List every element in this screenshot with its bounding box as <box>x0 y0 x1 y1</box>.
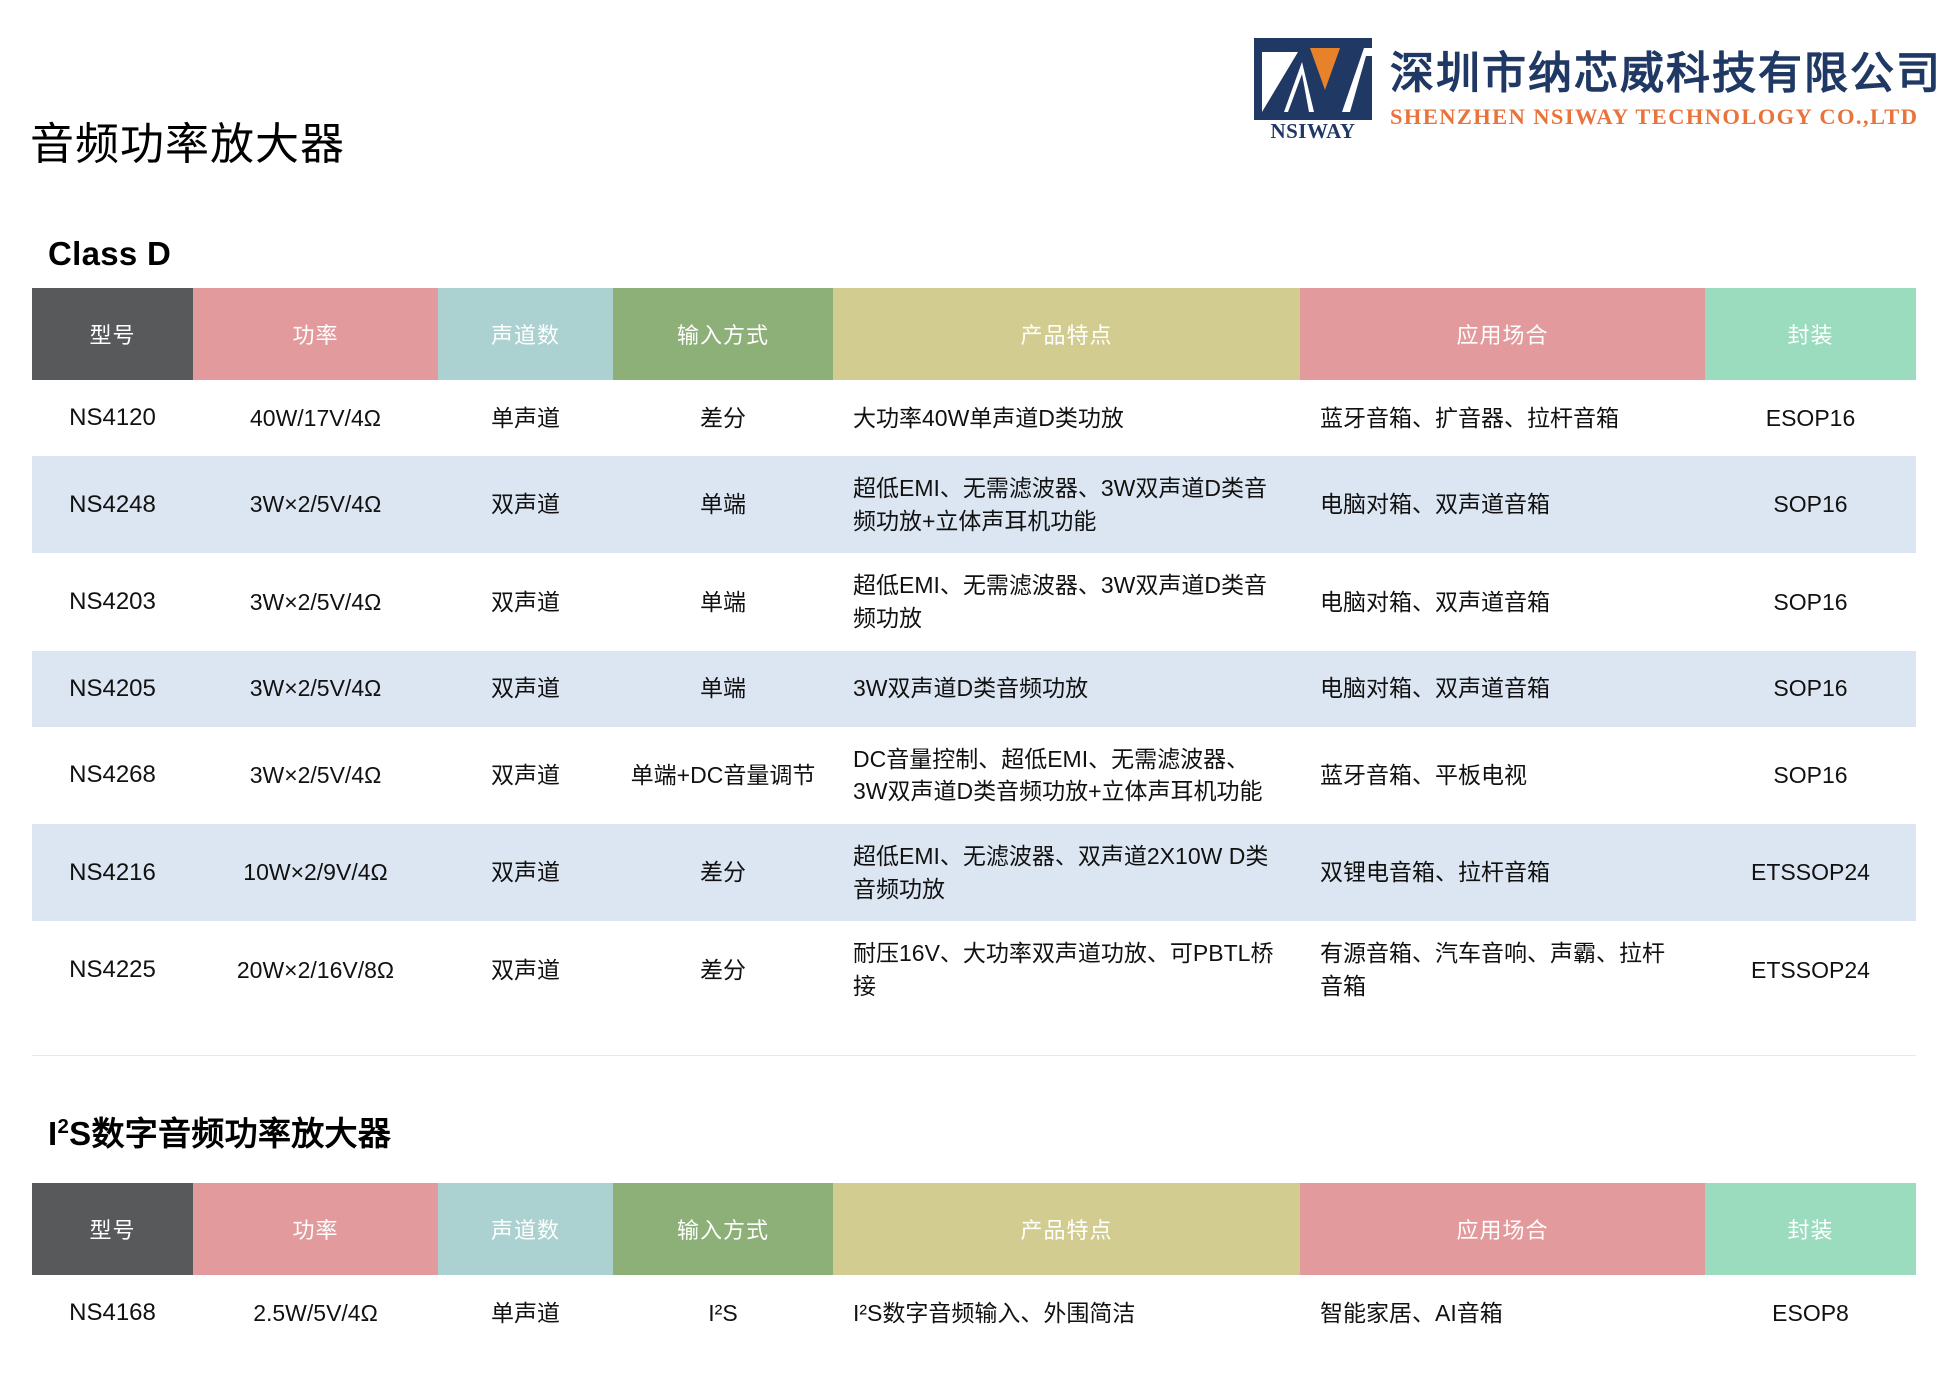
cell-applications: 智能家居、AI音箱 <box>1300 1275 1705 1351</box>
col-header-power: 功率 <box>193 288 438 380</box>
col-header-package: 封装 <box>1705 1183 1916 1275</box>
table-row: NS4168 2.5W/5V/4Ω 单声道 I²S I²S数字音频输入、外围简洁… <box>32 1275 1916 1351</box>
cell-input: 单端 <box>613 456 833 553</box>
cell-applications: 电脑对箱、双声道音箱 <box>1300 651 1705 727</box>
company-logo-block: NSIWAY 深圳市纳芯威科技有限公司 SHENZHEN NSIWAY TECH… <box>1254 38 1942 142</box>
i2s-table: 型号 功率 声道数 输入方式 产品特点 应用场合 封装 NS4168 2.5W/… <box>32 1183 1916 1351</box>
cell-power: 3W×2/5V/4Ω <box>193 456 438 553</box>
i2s-table-body: NS4168 2.5W/5V/4Ω 单声道 I²S I²S数字音频输入、外围简洁… <box>32 1275 1916 1351</box>
table-row: NS4203 3W×2/5V/4Ω 双声道 单端 超低EMI、无需滤波器、3W双… <box>32 553 1916 650</box>
section-divider <box>32 1055 1916 1056</box>
cell-features: DC音量控制、超低EMI、无需滤波器、3W双声道D类音频功放+立体声耳机功能 <box>833 727 1300 824</box>
cell-applications: 蓝牙音箱、扩音器、拉杆音箱 <box>1300 380 1705 456</box>
cell-features: 超低EMI、无需滤波器、3W双声道D类音频功放 <box>833 553 1300 650</box>
cell-model: NS4268 <box>32 727 193 824</box>
class-d-table: 型号 功率 声道数 输入方式 产品特点 应用场合 封装 NS4120 40W/1… <box>32 288 1916 1019</box>
cell-package: ESOP16 <box>1705 380 1916 456</box>
cell-channels: 单声道 <box>438 1275 613 1351</box>
cell-channels: 双声道 <box>438 553 613 650</box>
table-header-row: 型号 功率 声道数 输入方式 产品特点 应用场合 封装 <box>32 288 1916 380</box>
cell-package: ESOP8 <box>1705 1275 1916 1351</box>
cell-applications: 蓝牙音箱、平板电视 <box>1300 727 1705 824</box>
cell-model: NS4203 <box>32 553 193 650</box>
col-header-model: 型号 <box>32 288 193 380</box>
cell-power: 10W×2/9V/4Ω <box>193 824 438 921</box>
page-title: 音频功率放大器 <box>30 123 345 167</box>
company-name-en: SHENZHEN NSIWAY TECHNOLOGY CO.,LTD <box>1390 104 1942 130</box>
logo-wordmark-text: NSIWAY <box>1254 119 1372 144</box>
cell-applications: 电脑对箱、双声道音箱 <box>1300 553 1705 650</box>
section-title-class-d: Class D <box>48 235 171 273</box>
i2s-table-wrapper: 型号 功率 声道数 输入方式 产品特点 应用场合 封装 NS4168 2.5W/… <box>32 1183 1916 1351</box>
cell-package: SOP16 <box>1705 456 1916 553</box>
cell-model: NS4120 <box>32 380 193 456</box>
company-name-cn: 深圳市纳芯威科技有限公司 <box>1390 50 1942 98</box>
col-header-input: 输入方式 <box>613 1183 833 1275</box>
table-row: NS4216 10W×2/9V/4Ω 双声道 差分 超低EMI、无滤波器、双声道… <box>32 824 1916 921</box>
cell-features: 超低EMI、无滤波器、双声道2X10W D类音频功放 <box>833 824 1300 921</box>
cell-channels: 双声道 <box>438 727 613 824</box>
class-d-table-wrapper: 型号 功率 声道数 输入方式 产品特点 应用场合 封装 NS4120 40W/1… <box>32 288 1916 1019</box>
cell-applications: 电脑对箱、双声道音箱 <box>1300 456 1705 553</box>
table-row: NS4225 20W×2/16V/8Ω 双声道 差分 耐压16V、大功率双声道功… <box>32 921 1916 1018</box>
cell-input: 差分 <box>613 380 833 456</box>
cell-input: 差分 <box>613 824 833 921</box>
col-header-applications: 应用场合 <box>1300 1183 1705 1275</box>
col-header-channels: 声道数 <box>438 288 613 380</box>
table-header: 型号 功率 声道数 输入方式 产品特点 应用场合 封装 <box>32 288 1916 380</box>
col-header-package: 封装 <box>1705 288 1916 380</box>
cell-power: 40W/17V/4Ω <box>193 380 438 456</box>
cell-power: 3W×2/5V/4Ω <box>193 651 438 727</box>
col-header-applications: 应用场合 <box>1300 288 1705 380</box>
col-header-features: 产品特点 <box>833 288 1300 380</box>
cell-power: 2.5W/5V/4Ω <box>193 1275 438 1351</box>
cell-package: ETSSOP24 <box>1705 824 1916 921</box>
cell-input: 差分 <box>613 921 833 1018</box>
product-catalog-page: NSIWAY 深圳市纳芯威科技有限公司 SHENZHEN NSIWAY TECH… <box>0 0 1950 1385</box>
cell-power: 20W×2/16V/8Ω <box>193 921 438 1018</box>
cell-features: 耐压16V、大功率双声道功放、可PBTL桥接 <box>833 921 1300 1018</box>
cell-channels: 双声道 <box>438 651 613 727</box>
cell-power: 3W×2/5V/4Ω <box>193 727 438 824</box>
cell-features: 大功率40W单声道D类功放 <box>833 380 1300 456</box>
table-row: NS4120 40W/17V/4Ω 单声道 差分 大功率40W单声道D类功放 蓝… <box>32 380 1916 456</box>
section-title-i2s-text: I2S数字音频功率放大器 <box>48 1115 391 1152</box>
nsiway-logo-icon: NSIWAY <box>1254 38 1372 142</box>
cell-model: NS4216 <box>32 824 193 921</box>
cell-channels: 单声道 <box>438 380 613 456</box>
table-header: 型号 功率 声道数 输入方式 产品特点 应用场合 封装 <box>32 1183 1916 1275</box>
cell-model: NS4248 <box>32 456 193 553</box>
cell-package: ETSSOP24 <box>1705 921 1916 1018</box>
col-header-power: 功率 <box>193 1183 438 1275</box>
table-header-row: 型号 功率 声道数 输入方式 产品特点 应用场合 封装 <box>32 1183 1916 1275</box>
cell-power: 3W×2/5V/4Ω <box>193 553 438 650</box>
cell-channels: 双声道 <box>438 824 613 921</box>
cell-applications: 双锂电音箱、拉杆音箱 <box>1300 824 1705 921</box>
cell-features: I²S数字音频输入、外围简洁 <box>833 1275 1300 1351</box>
col-header-features: 产品特点 <box>833 1183 1300 1275</box>
cell-input: I²S <box>613 1275 833 1351</box>
table-row: NS4248 3W×2/5V/4Ω 双声道 单端 超低EMI、无需滤波器、3W双… <box>32 456 1916 553</box>
company-name-block: 深圳市纳芯威科技有限公司 SHENZHEN NSIWAY TECHNOLOGY … <box>1390 50 1942 130</box>
cell-package: SOP16 <box>1705 553 1916 650</box>
cell-channels: 双声道 <box>438 921 613 1018</box>
cell-applications: 有源音箱、汽车音响、声霸、拉杆音箱 <box>1300 921 1705 1018</box>
cell-input: 单端 <box>613 651 833 727</box>
cell-input: 单端+DC音量调节 <box>613 727 833 824</box>
cell-package: SOP16 <box>1705 727 1916 824</box>
table-row: NS4205 3W×2/5V/4Ω 双声道 单端 3W双声道D类音频功放 电脑对… <box>32 651 1916 727</box>
table-row: NS4268 3W×2/5V/4Ω 双声道 单端+DC音量调节 DC音量控制、超… <box>32 727 1916 824</box>
cell-model: NS4205 <box>32 651 193 727</box>
cell-features: 3W双声道D类音频功放 <box>833 651 1300 727</box>
cell-input: 单端 <box>613 553 833 650</box>
col-header-input: 输入方式 <box>613 288 833 380</box>
section-title-i2s: I2S数字音频功率放大器 <box>48 1107 391 1155</box>
cell-model: NS4168 <box>32 1275 193 1351</box>
class-d-table-body: NS4120 40W/17V/4Ω 单声道 差分 大功率40W单声道D类功放 蓝… <box>32 380 1916 1019</box>
cell-features: 超低EMI、无需滤波器、3W双声道D类音频功放+立体声耳机功能 <box>833 456 1300 553</box>
cell-channels: 双声道 <box>438 456 613 553</box>
col-header-model: 型号 <box>32 1183 193 1275</box>
cell-model: NS4225 <box>32 921 193 1018</box>
col-header-channels: 声道数 <box>438 1183 613 1275</box>
cell-package: SOP16 <box>1705 651 1916 727</box>
